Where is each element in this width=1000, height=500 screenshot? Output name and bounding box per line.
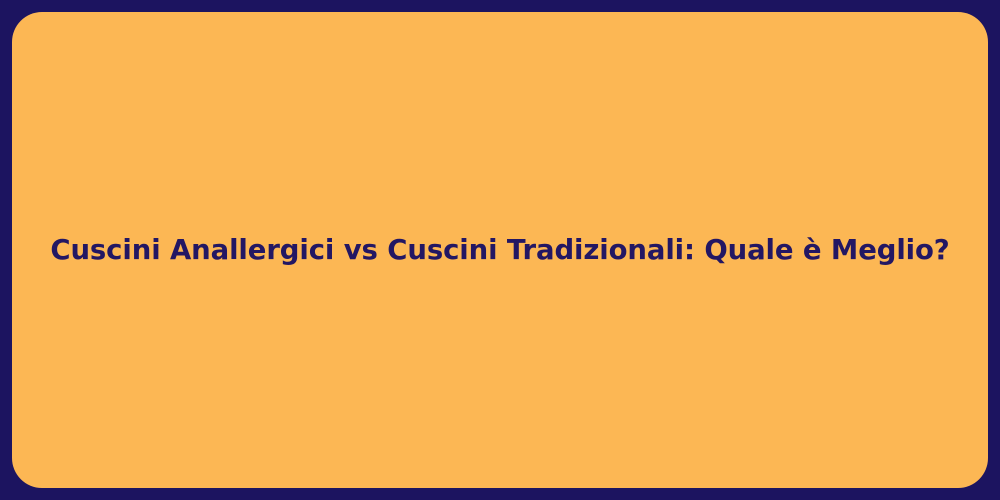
banner-panel: Cuscini Anallergici vs Cuscini Tradizion… <box>12 12 988 488</box>
banner-frame: Cuscini Anallergici vs Cuscini Tradizion… <box>0 0 1000 500</box>
page-title: Cuscini Anallergici vs Cuscini Tradizion… <box>12 233 988 267</box>
